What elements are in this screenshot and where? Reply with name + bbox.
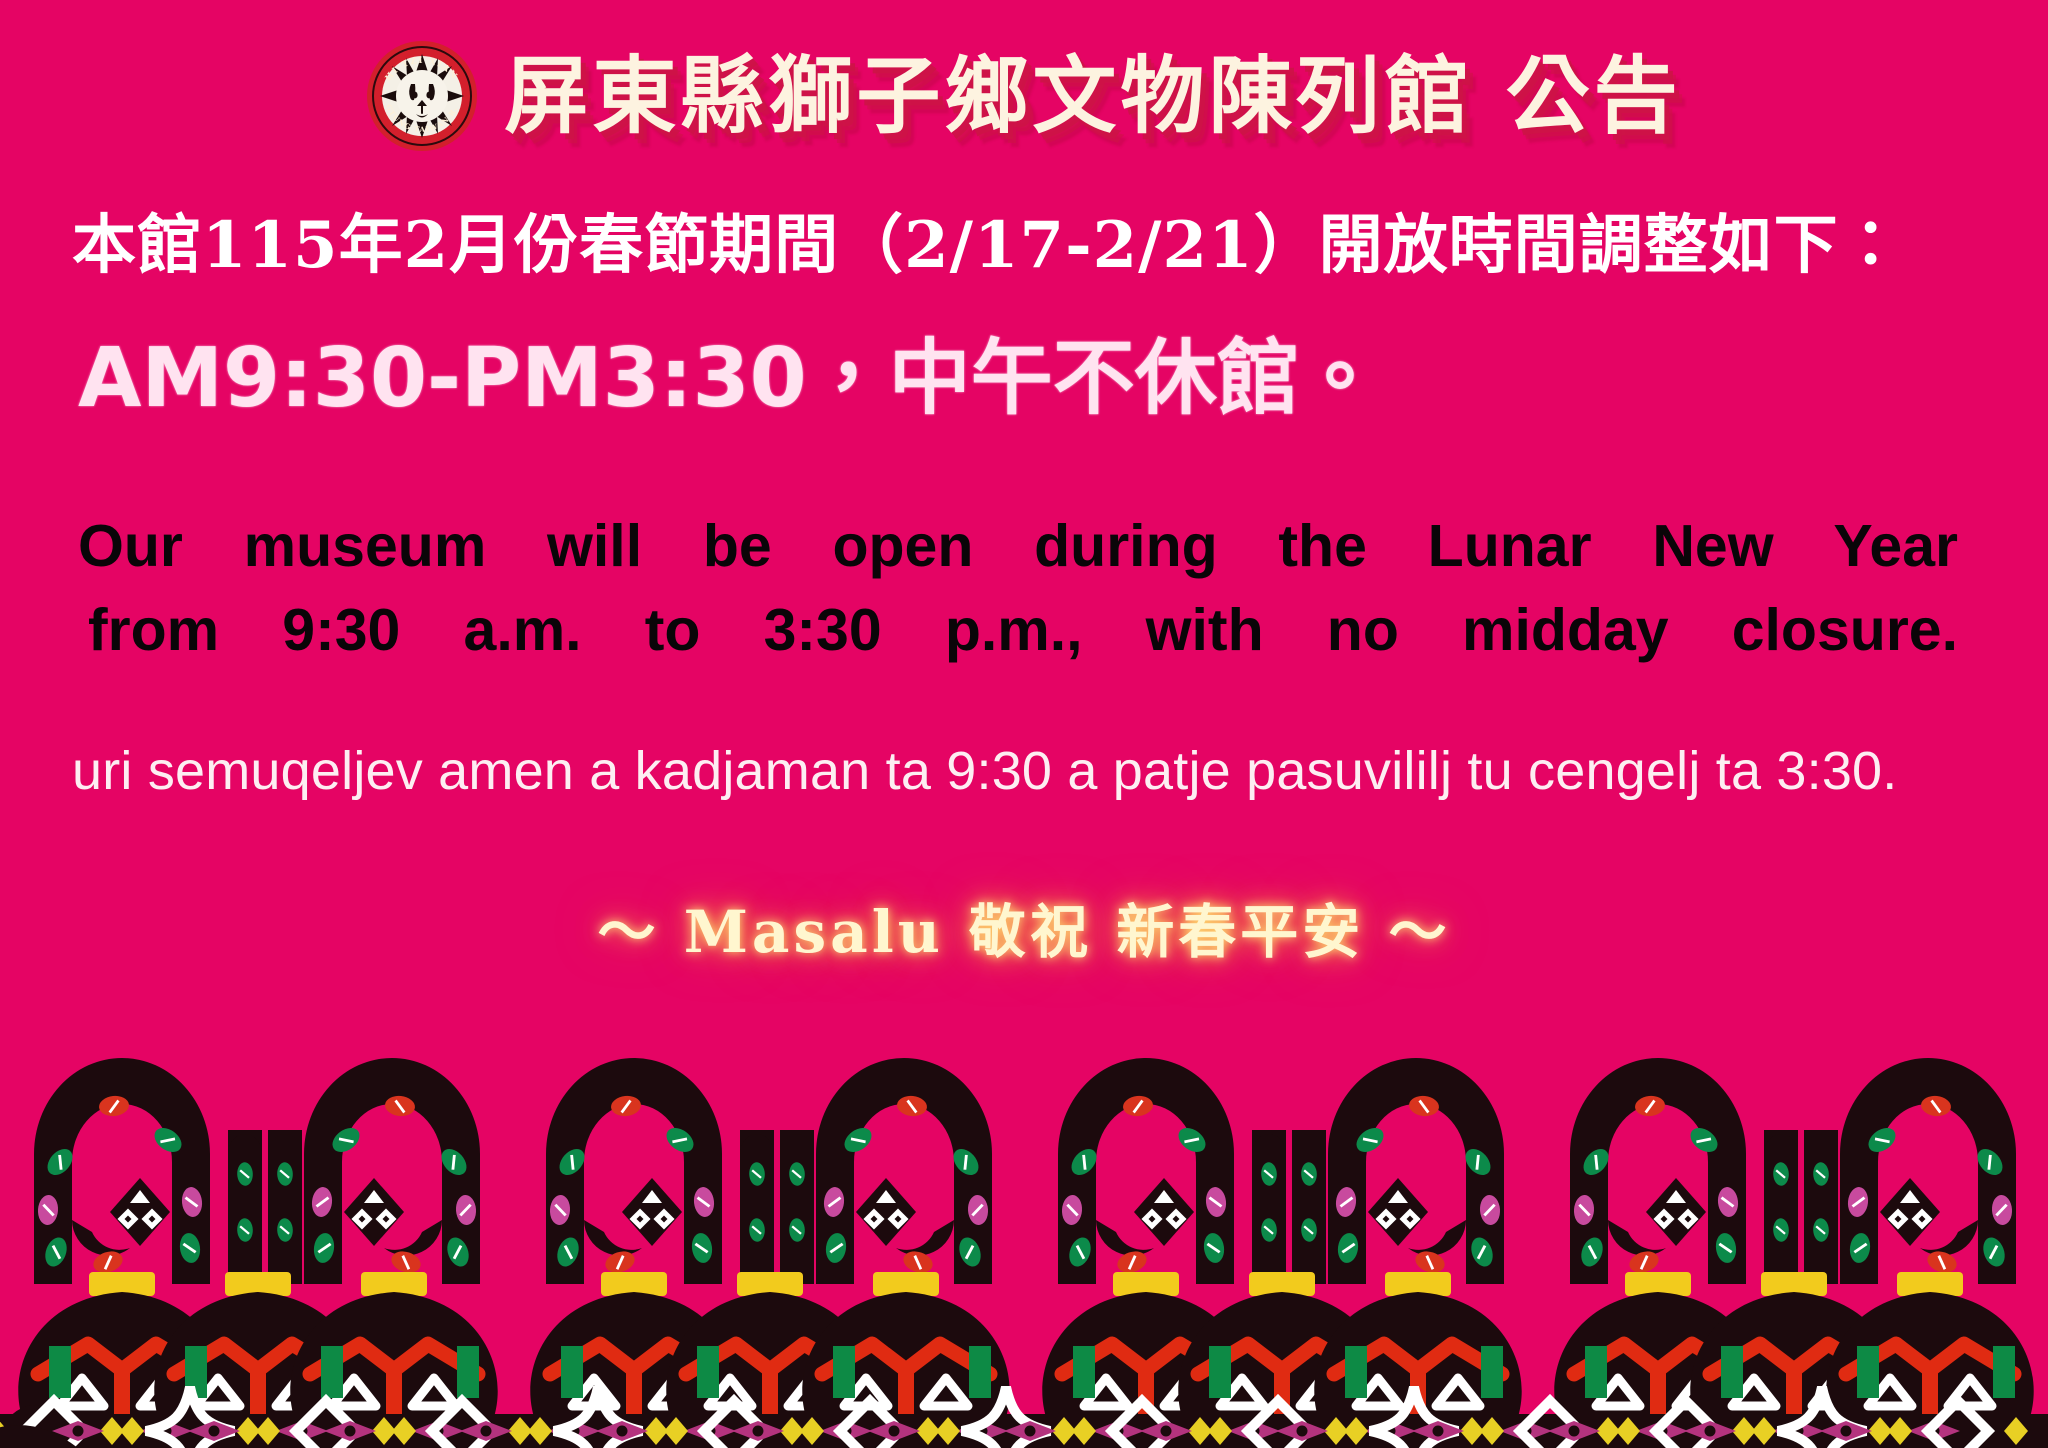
- english-line-1: Our museum will be open during the Lunar…: [78, 505, 1958, 589]
- header: SHI TZI XIANG PINGTUNG TAIWAN R.O.C. 屏東縣…: [0, 40, 2048, 152]
- notice-english-block: Our museum will be open during the Lunar…: [78, 505, 1958, 673]
- poster-canvas: SHI TZI XIANG PINGTUNG TAIWAN R.O.C. 屏東縣…: [0, 0, 2048, 1448]
- notice-hours-line: AM9:30-PM3:30，中午不休館。: [78, 330, 1982, 428]
- english-line-2: from 9:30 a.m. to 3:30 p.m., with no mid…: [78, 589, 1958, 673]
- motif-row: [18, 1058, 2033, 1448]
- notice-paiwan-text: uri semuqeljev amen a kadjaman ta 9:30 a…: [72, 735, 1952, 808]
- page-title: 屏東縣獅子鄉文物陳列館 公告: [504, 54, 1681, 138]
- notice-period-line: 本館115年2月份春節期間（2/17-2/21）開放時間調整如下：: [72, 208, 1976, 284]
- paiwan-border-pattern: [0, 1016, 2048, 1448]
- museum-lion-crest-icon: SHI TZI XIANG PINGTUNG TAIWAN R.O.C.: [366, 40, 478, 152]
- greeting-line: ～ Masalu 敬祝 新春平安 ～: [0, 885, 2048, 969]
